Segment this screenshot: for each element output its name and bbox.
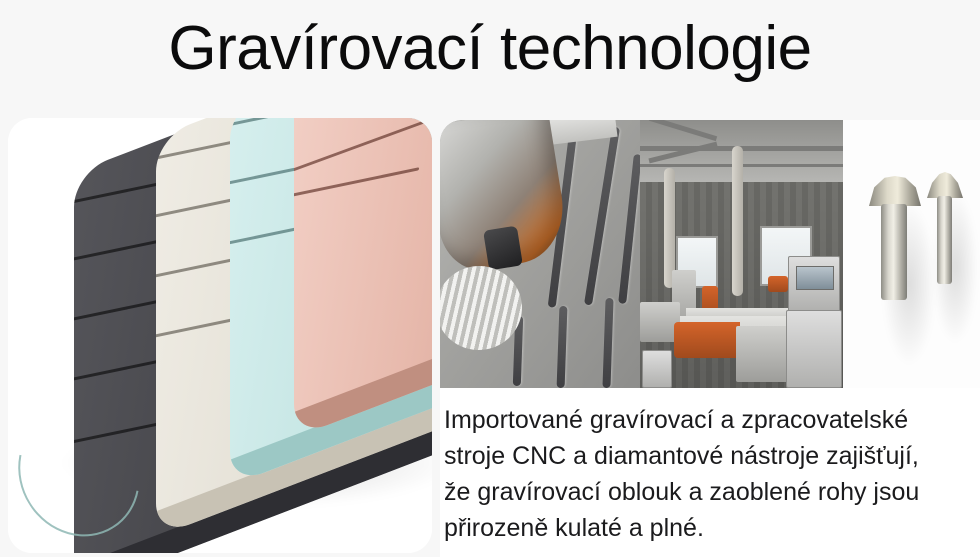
engraved-boards-photo [8, 118, 432, 553]
photo-strip [440, 120, 980, 388]
boards-scene [8, 118, 432, 553]
router-bits-photo [843, 120, 980, 388]
paragraph-line: stroje CNC a diamantové nástroje zajišťu… [444, 438, 974, 474]
description-paragraph: Importované gravírovací a zpracovatelské… [444, 402, 974, 546]
cnc-collet [483, 226, 523, 271]
paragraph-line: Importované gravírovací a zpracovatelské [444, 402, 974, 438]
paragraph-line: přirozeně kulaté a plné. [444, 510, 974, 546]
promo-banner: Gravírovací technologie [0, 0, 980, 557]
cnc-engraving-head-photo [440, 120, 640, 388]
content-card: Importované gravírovací a zpracovatelské… [440, 120, 980, 557]
pink-board [294, 118, 432, 438]
page-title: Gravírovací technologie [0, 8, 980, 90]
paragraph-line: že gravírovací oblouk a zaoblené rohy js… [444, 474, 974, 510]
factory-workshop-photo [640, 120, 843, 388]
